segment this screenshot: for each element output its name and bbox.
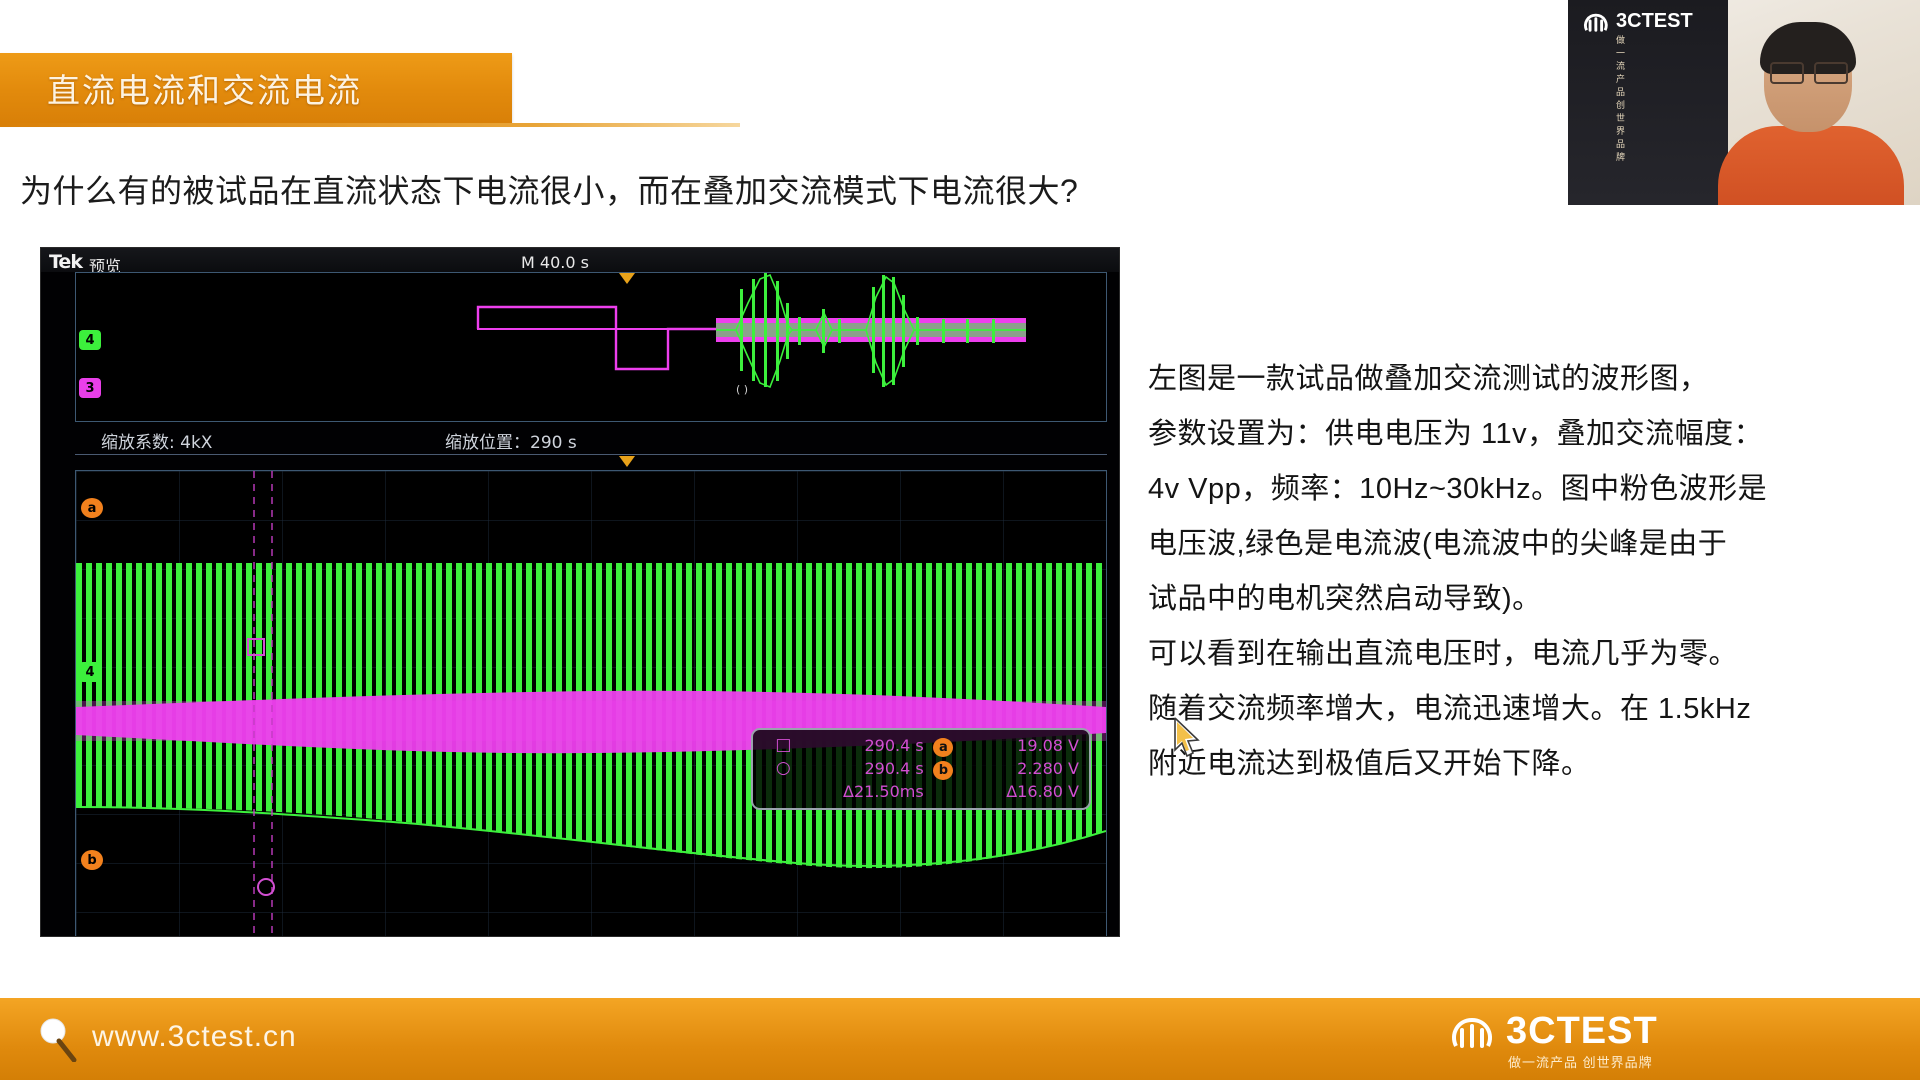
slide-subtitle: 为什么有的被试品在直流状态下电流很小，而在叠加交流模式下电流很大? <box>20 166 1290 212</box>
magnifier-icon <box>36 1016 80 1062</box>
cursor-row-delta: Δ21.50ms Δ16.80 V <box>761 780 1081 803</box>
mouse-pointer-icon <box>1172 718 1202 762</box>
zoom-cursor-a-marker: a <box>81 498 103 518</box>
cursor-a-time: 290.4 s <box>806 734 926 757</box>
explanation-line: 随着交流频率增大，电流迅速增大。在 1.5kHz <box>1148 682 1908 737</box>
tek-logo: Tek <box>49 251 82 273</box>
zoom-window <box>75 470 1107 937</box>
zoom-info-row: 缩放系数: 4kX 缩放位置：290 s <box>75 424 1107 454</box>
explanation-line: 可以看到在输出直流电压时，电流几乎为零。 <box>1148 627 1908 682</box>
overview-channel-3-marker: 3 <box>79 378 101 398</box>
slide-title-banner: 直流电流和交流电流 <box>0 53 512 123</box>
cursor-a-badge: a <box>926 734 961 757</box>
presenter-glasses <box>1770 62 1846 80</box>
cursor-b-badge: b <box>926 757 961 780</box>
webcam-logo-slogan: 做一流产品 创世界品牌 <box>1616 33 1626 163</box>
explanation-line: 电压波,绿色是电流波(电流波中的尖峰是由于 <box>1148 517 1908 572</box>
footer-logo-mark <box>1448 1012 1500 1062</box>
cursor-b-badge-label: b <box>933 761 953 780</box>
zoom-cursor-b-marker: b <box>81 850 103 870</box>
webcam-logo-brand: 3CTEST <box>1616 10 1693 33</box>
cursor-square-icon: □ <box>761 734 806 757</box>
zoom-ruler <box>75 454 1107 465</box>
presenter-body <box>1718 126 1904 205</box>
presenter-webcam-overlay[interactable]: 3CTEST 做一流产品 创世界品牌 <box>1568 0 1920 205</box>
cursor-readout-panel: □ 290.4 s a 19.08 V ○ 290.4 s b 2.280 V … <box>751 728 1091 810</box>
explanation-line: 试品中的电机突然启动导致)。 <box>1148 572 1908 627</box>
explanation-text: 左图是一款试品做叠加交流测试的波形图， 参数设置为：供电电压为 11v，叠加交流… <box>1148 352 1908 792</box>
explanation-line: 左图是一款试品做叠加交流测试的波形图， <box>1148 352 1908 407</box>
overview-waveform: ( ) <box>76 273 1106 421</box>
cursor-row-a: □ 290.4 s a 19.08 V <box>761 734 1081 757</box>
cursor-b-value: 2.280 V <box>961 757 1081 780</box>
explanation-line: 参数设置为：供电电压为 11v，叠加交流幅度： <box>1148 407 1908 462</box>
explanation-line: 4v Vpp，频率：10Hz~30kHz。图中粉色波形是 <box>1148 462 1908 517</box>
footer-logo: 3CTEST 做一流产品 创世界品牌 <box>1448 1012 1888 1068</box>
cursor-delta-value: Δ16.80 V <box>961 780 1081 803</box>
zoom-channel-4-marker: 4 <box>79 662 101 682</box>
zoom-factor-label: 缩放系数: 4kX <box>101 428 212 453</box>
cursor-row-b: ○ 290.4 s b 2.280 V <box>761 757 1081 780</box>
zoom-waveform <box>76 471 1106 937</box>
footer-logo-slogan: 做一流产品 创世界品牌 <box>1508 1052 1653 1071</box>
cursor-a-value: 19.08 V <box>961 734 1081 757</box>
overview-window: ( ) <box>75 272 1107 422</box>
footer-website-url[interactable]: www.3ctest.cn <box>92 1020 297 1054</box>
title-underline <box>0 123 740 127</box>
svg-text:( ): ( ) <box>736 383 748 396</box>
zoom-position-label: 缩放位置：290 s <box>445 428 577 453</box>
main-timebase-label: M 40.0 s <box>521 253 589 272</box>
webcam-logo-mark <box>1582 10 1612 40</box>
overview-trigger-arrow <box>619 273 635 284</box>
cursor-a-badge-label: a <box>933 738 953 757</box>
cursor-circle-icon: ○ <box>761 757 806 780</box>
oscilloscope-screenshot: Tek 预览 M 40.0 s <box>40 247 1120 937</box>
page-title: 直流电流和交流电流 <box>47 64 362 112</box>
slide-footer: www.3ctest.cn 3CTEST 做一流产品 创世界品牌 <box>0 998 1920 1080</box>
cursor-delta-time: Δ21.50ms <box>806 780 926 803</box>
zoom-trigger-arrow <box>619 456 635 467</box>
cursor-b-time: 290.4 s <box>806 757 926 780</box>
overview-channel-4-marker: 4 <box>79 330 101 350</box>
webcam-logo: 3CTEST 做一流产品 创世界品牌 <box>1582 10 1612 45</box>
footer-logo-brand: 3CTEST <box>1506 1010 1658 1053</box>
slide-canvas: 直流电流和交流电流 为什么有的被试品在直流状态下电流很小，而在叠加交流模式下电流… <box>0 0 1920 1080</box>
explanation-line: 附近电流达到极值后又开始下降。 <box>1148 737 1908 792</box>
